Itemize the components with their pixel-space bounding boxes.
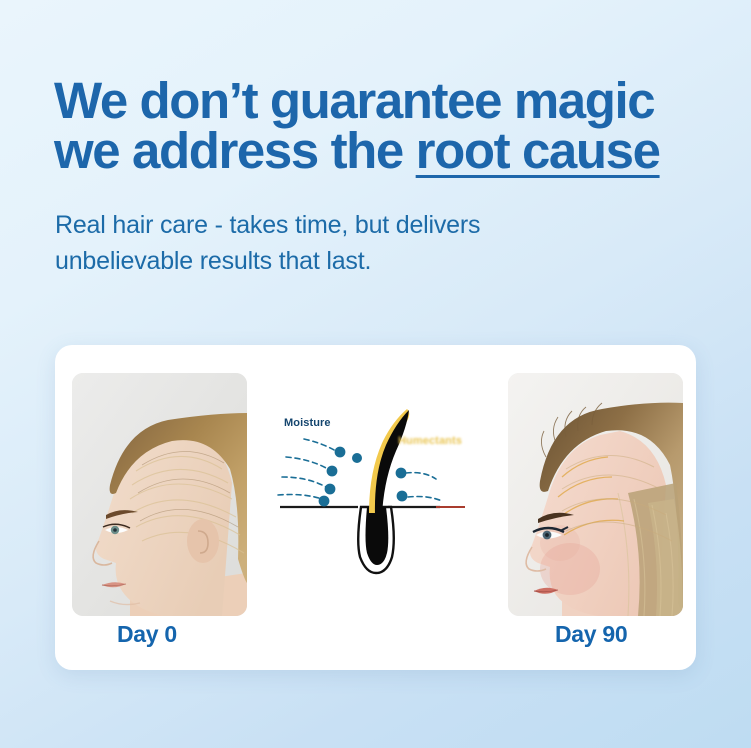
before-photo-image [72, 373, 247, 616]
moisture-label: Moisture [284, 417, 331, 429]
before-label: Day 0 [117, 621, 177, 648]
headline-line-2-prefix: we address the [54, 122, 416, 179]
headline-block: We don’t guarantee magicwe address the r… [54, 76, 734, 176]
before-after-card: Day 0 Day 90 [55, 345, 696, 670]
headline-emphasis-root-cause: root cause [416, 122, 660, 179]
headline-line-1: We don’t guarantee magic [54, 72, 654, 129]
after-label: Day 90 [555, 621, 627, 648]
after-photo [508, 373, 683, 616]
before-photo [72, 373, 247, 616]
moisture-dots-right [396, 468, 408, 502]
humectant-flow-lines [406, 473, 442, 501]
subtitle: Real hair care - takes time, but deliver… [55, 208, 655, 279]
hair-follicle-diagram: Moisture Humectants [260, 395, 495, 585]
page-title: We don’t guarantee magicwe address the r… [54, 76, 734, 176]
follicle-core [366, 507, 389, 565]
moisture-dots-left [319, 447, 362, 507]
after-photo-image [508, 373, 683, 616]
humectants-label: Humectants [398, 435, 462, 447]
